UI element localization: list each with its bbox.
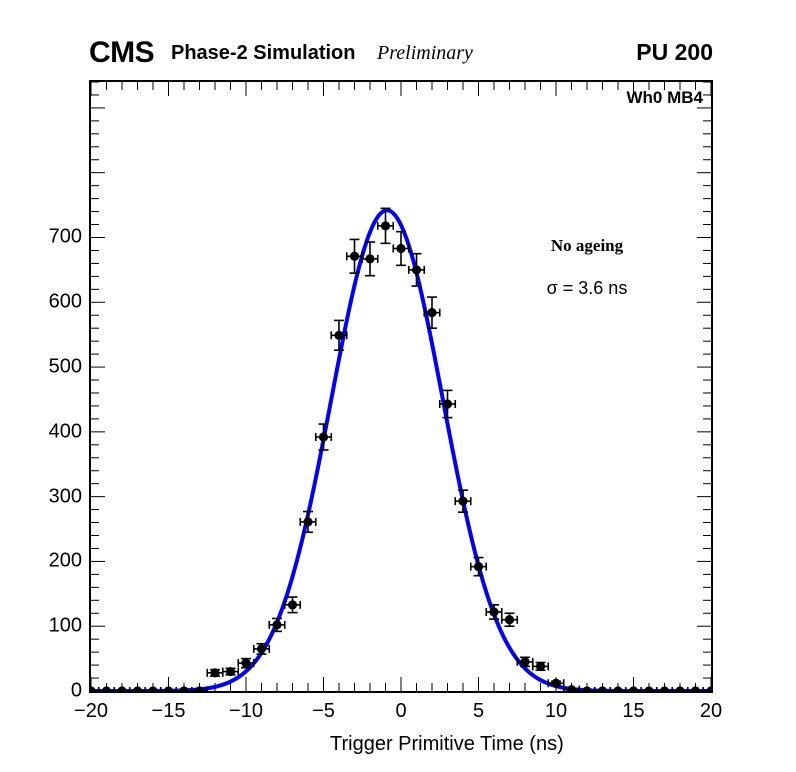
data-point <box>641 686 657 691</box>
data-point <box>502 613 518 626</box>
data-point <box>99 686 115 691</box>
data-marker <box>288 600 297 609</box>
x-tick-label: −15 <box>134 700 204 723</box>
data-point <box>223 667 239 676</box>
y-tick-label: 200 <box>22 550 82 573</box>
data-marker <box>551 679 560 688</box>
data-marker <box>210 668 219 677</box>
y-tick-label: 500 <box>22 356 82 379</box>
data-marker <box>675 686 684 691</box>
data-points-group <box>91 208 711 691</box>
data-point <box>471 558 487 576</box>
data-marker <box>350 252 359 261</box>
data-marker <box>164 686 173 691</box>
data-point <box>688 686 704 691</box>
data-marker <box>396 244 405 253</box>
data-point <box>300 512 316 533</box>
data-point <box>533 662 549 671</box>
data-marker <box>644 686 653 691</box>
y-tick-label: 100 <box>22 615 82 638</box>
data-point <box>455 490 471 512</box>
x-tick-label: 5 <box>444 700 514 723</box>
data-marker <box>365 254 374 263</box>
data-marker <box>179 686 188 691</box>
data-marker <box>272 620 281 629</box>
data-marker <box>381 221 390 230</box>
y-tick-label: 700 <box>22 226 82 249</box>
data-point <box>269 618 285 631</box>
data-marker <box>536 662 545 671</box>
plot-frame: Wh0 MB4 No ageing σ = 3.6 ns <box>89 80 713 693</box>
gaussian-fit-curve <box>91 210 711 691</box>
data-marker <box>91 686 96 691</box>
y-tick-label: 300 <box>22 485 82 508</box>
data-point <box>486 605 502 619</box>
data-marker <box>443 399 452 408</box>
data-marker <box>226 667 235 676</box>
preliminary-label: Preliminary <box>377 42 473 65</box>
data-point <box>145 686 161 691</box>
data-marker <box>691 686 700 691</box>
data-marker <box>706 686 711 691</box>
x-tick-label: −20 <box>56 700 126 723</box>
data-marker <box>660 686 669 691</box>
data-marker <box>257 644 266 653</box>
data-marker <box>520 657 529 666</box>
data-point <box>316 424 332 450</box>
axis-ticks <box>91 82 711 691</box>
x-tick-label: −5 <box>289 700 359 723</box>
data-point <box>657 686 673 691</box>
data-marker <box>117 686 126 691</box>
data-marker <box>629 686 638 691</box>
data-marker <box>427 308 436 317</box>
data-marker <box>567 685 576 691</box>
data-marker <box>319 432 328 441</box>
data-marker <box>458 497 467 506</box>
data-marker <box>582 686 591 691</box>
plot-header: CMS Phase-2 Simulation Preliminary PU 20… <box>89 40 713 70</box>
data-marker <box>102 686 111 691</box>
data-marker <box>598 686 607 691</box>
data-marker <box>303 517 312 526</box>
data-marker <box>489 607 498 616</box>
x-axis-title: Trigger Primitive Time (ns) <box>330 733 564 756</box>
data-point <box>130 686 146 691</box>
y-axis-tick-labels: 0100200300400500600700 <box>14 0 82 772</box>
data-point <box>703 686 711 691</box>
x-tick-label: 0 <box>366 700 436 723</box>
data-marker <box>613 686 622 691</box>
data-marker <box>334 331 343 340</box>
y-tick-label: 600 <box>22 291 82 314</box>
x-tick-label: 15 <box>599 700 669 723</box>
cms-logo: CMS <box>89 36 154 70</box>
pileup-label: PU 200 <box>636 39 713 66</box>
data-point <box>610 686 626 691</box>
x-axis-tick-labels: −20−15−10−505101520 <box>0 700 796 730</box>
data-point <box>207 668 223 677</box>
simulation-subtitle: Phase-2 Simulation <box>171 42 356 65</box>
x-tick-label: −10 <box>211 700 281 723</box>
data-marker <box>133 686 142 691</box>
data-marker <box>148 686 157 691</box>
data-marker <box>474 562 483 571</box>
data-marker <box>505 615 514 624</box>
data-marker <box>412 265 421 274</box>
x-tick-label: 20 <box>676 700 746 723</box>
data-point <box>114 686 130 691</box>
plot-canvas <box>91 82 711 691</box>
y-tick-label: 400 <box>22 420 82 443</box>
data-point <box>626 686 642 691</box>
x-tick-label: 10 <box>521 700 591 723</box>
data-marker <box>241 659 250 668</box>
data-point <box>91 686 99 691</box>
data-point <box>672 686 688 691</box>
